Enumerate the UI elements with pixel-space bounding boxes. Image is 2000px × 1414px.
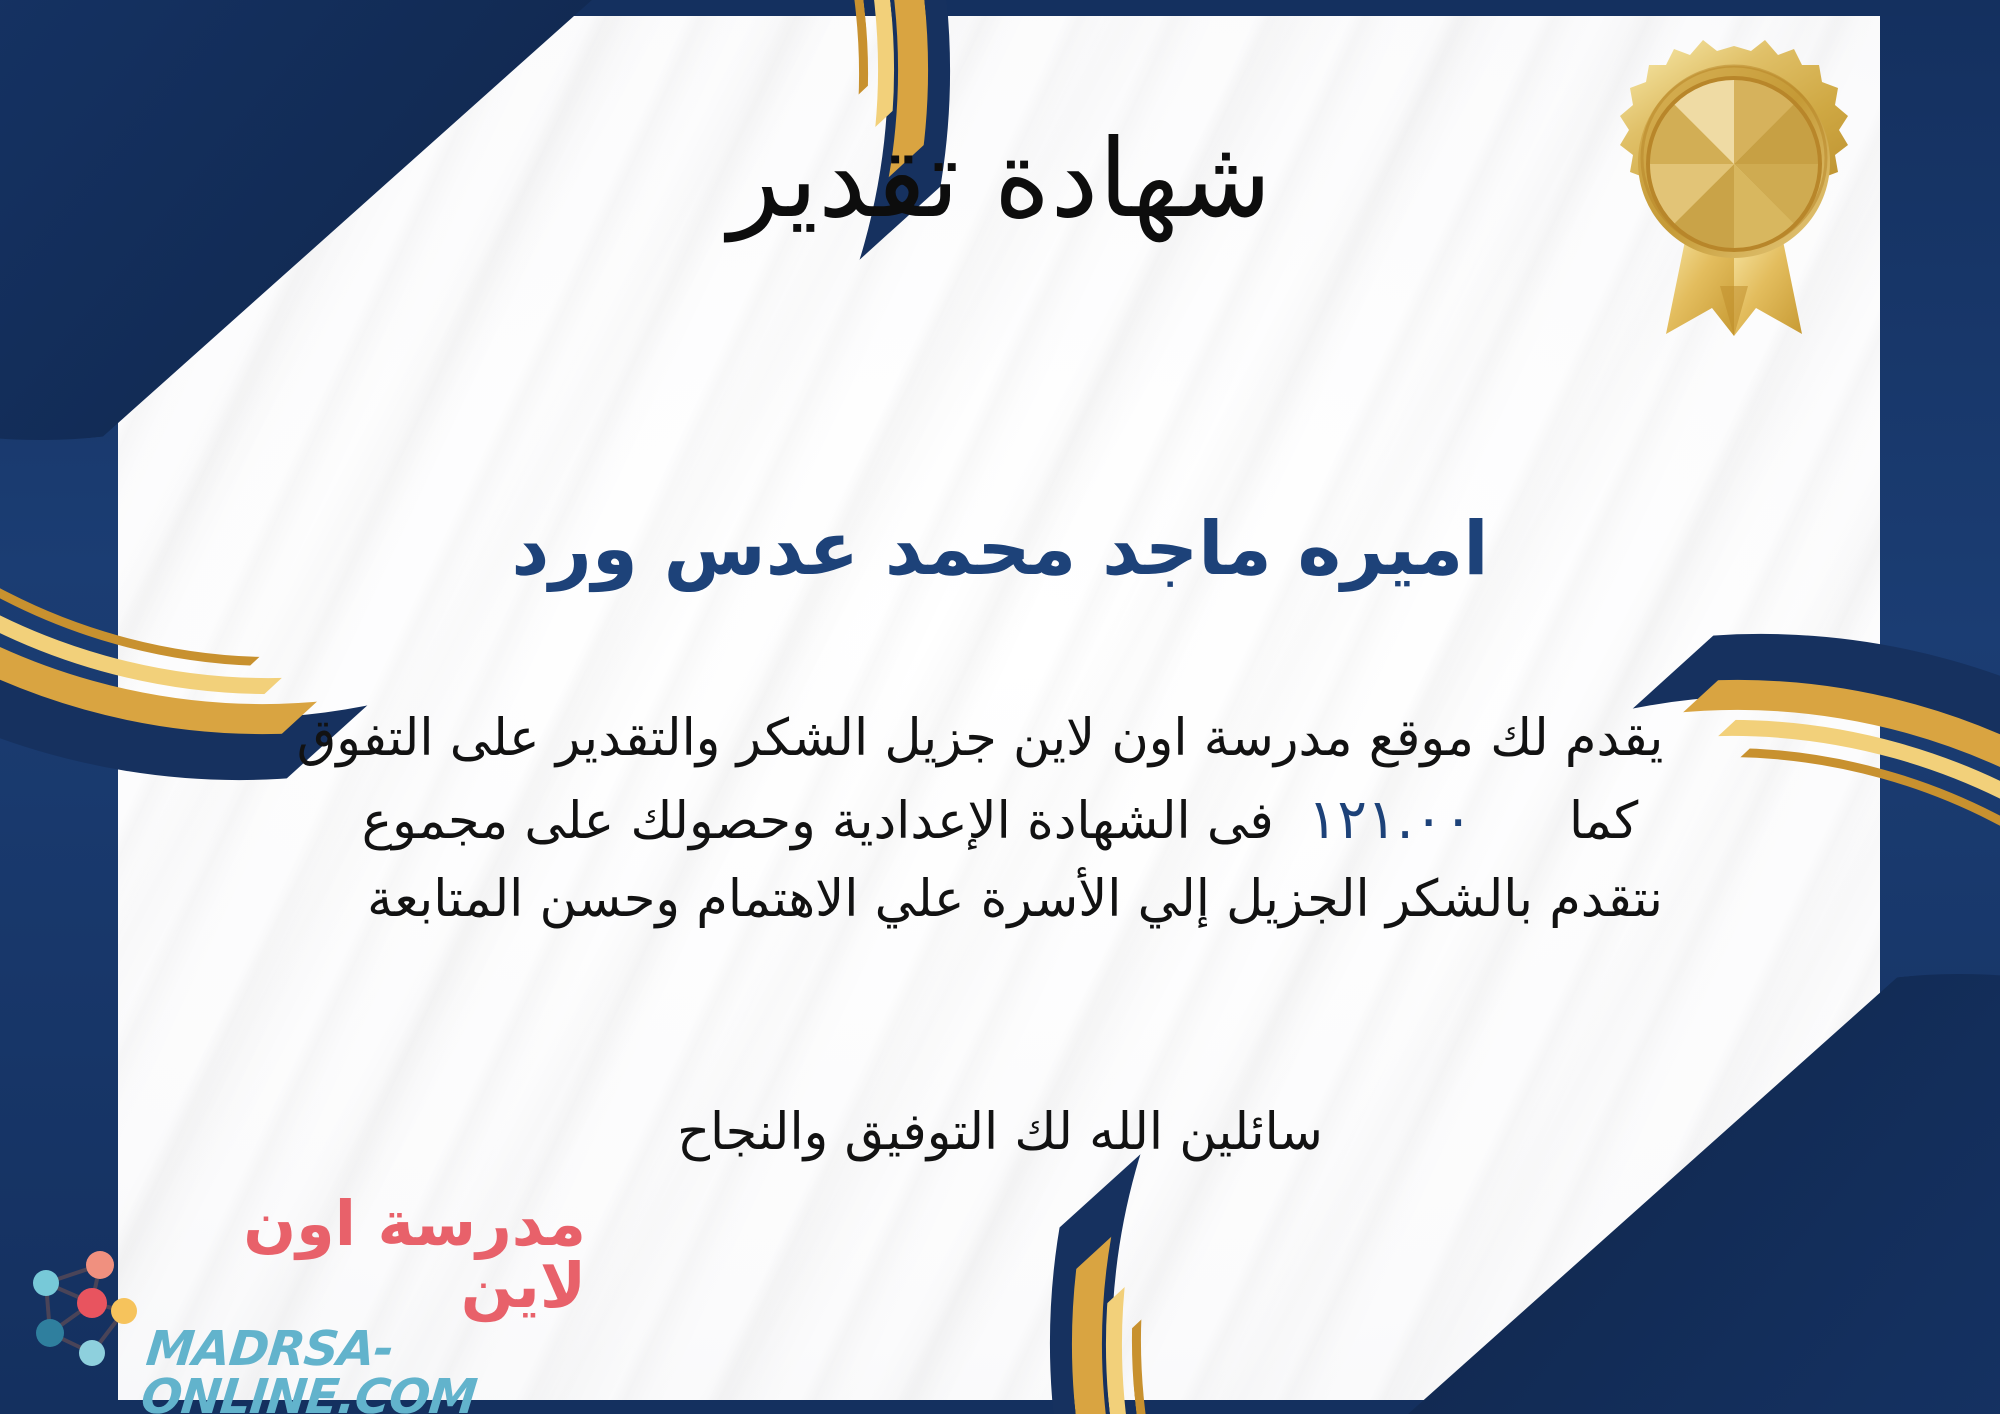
brand-website-url: MADRSA-ONLINE.COM <box>139 1325 591 1414</box>
brand-arabic-name: مدرسة اون لاين <box>144 1193 586 1317</box>
body-line-2-left-text: كما <box>1569 783 1638 861</box>
total-score-value: ١٢١.٠٠ <box>1274 778 1569 862</box>
body-line-3: نتقدم بالشكر الجزيل إلي الأسرة علي الاهت… <box>40 861 1960 939</box>
body-line-2: كما ١٢١.٠٠ فى الشهادة الإعدادية وحصولك ع… <box>40 778 1960 862</box>
closing-wish: سائلين الله لك التوفيق والنجاح <box>150 1095 1850 1172</box>
certificate-body: يقدم لك موقع مدرسة اون لاين جزيل الشكر و… <box>40 700 1960 939</box>
body-line-1: يقدم لك موقع مدرسة اون لاين جزيل الشكر و… <box>40 700 1960 778</box>
brand-logo[interactable]: مدرسة اون لاين MADRSA-ONLINE.COM <box>26 1222 586 1392</box>
body-line-2-right-text: فى الشهادة الإعدادية وحصولك على مجموع <box>362 783 1274 861</box>
student-name: اميره ماجد محمد عدس ورد <box>150 505 1850 594</box>
network-nodes-icon <box>26 1241 138 1373</box>
gold-award-medal-icon <box>1608 36 1860 336</box>
page-title: شهادة تقدير <box>150 118 1850 242</box>
brand-text-group: مدرسة اون لاين MADRSA-ONLINE.COM <box>144 1193 586 1414</box>
certificate-canvas: شهادة تقدير اميره ماجد محمد عدس ورد يقدم… <box>0 0 2000 1414</box>
